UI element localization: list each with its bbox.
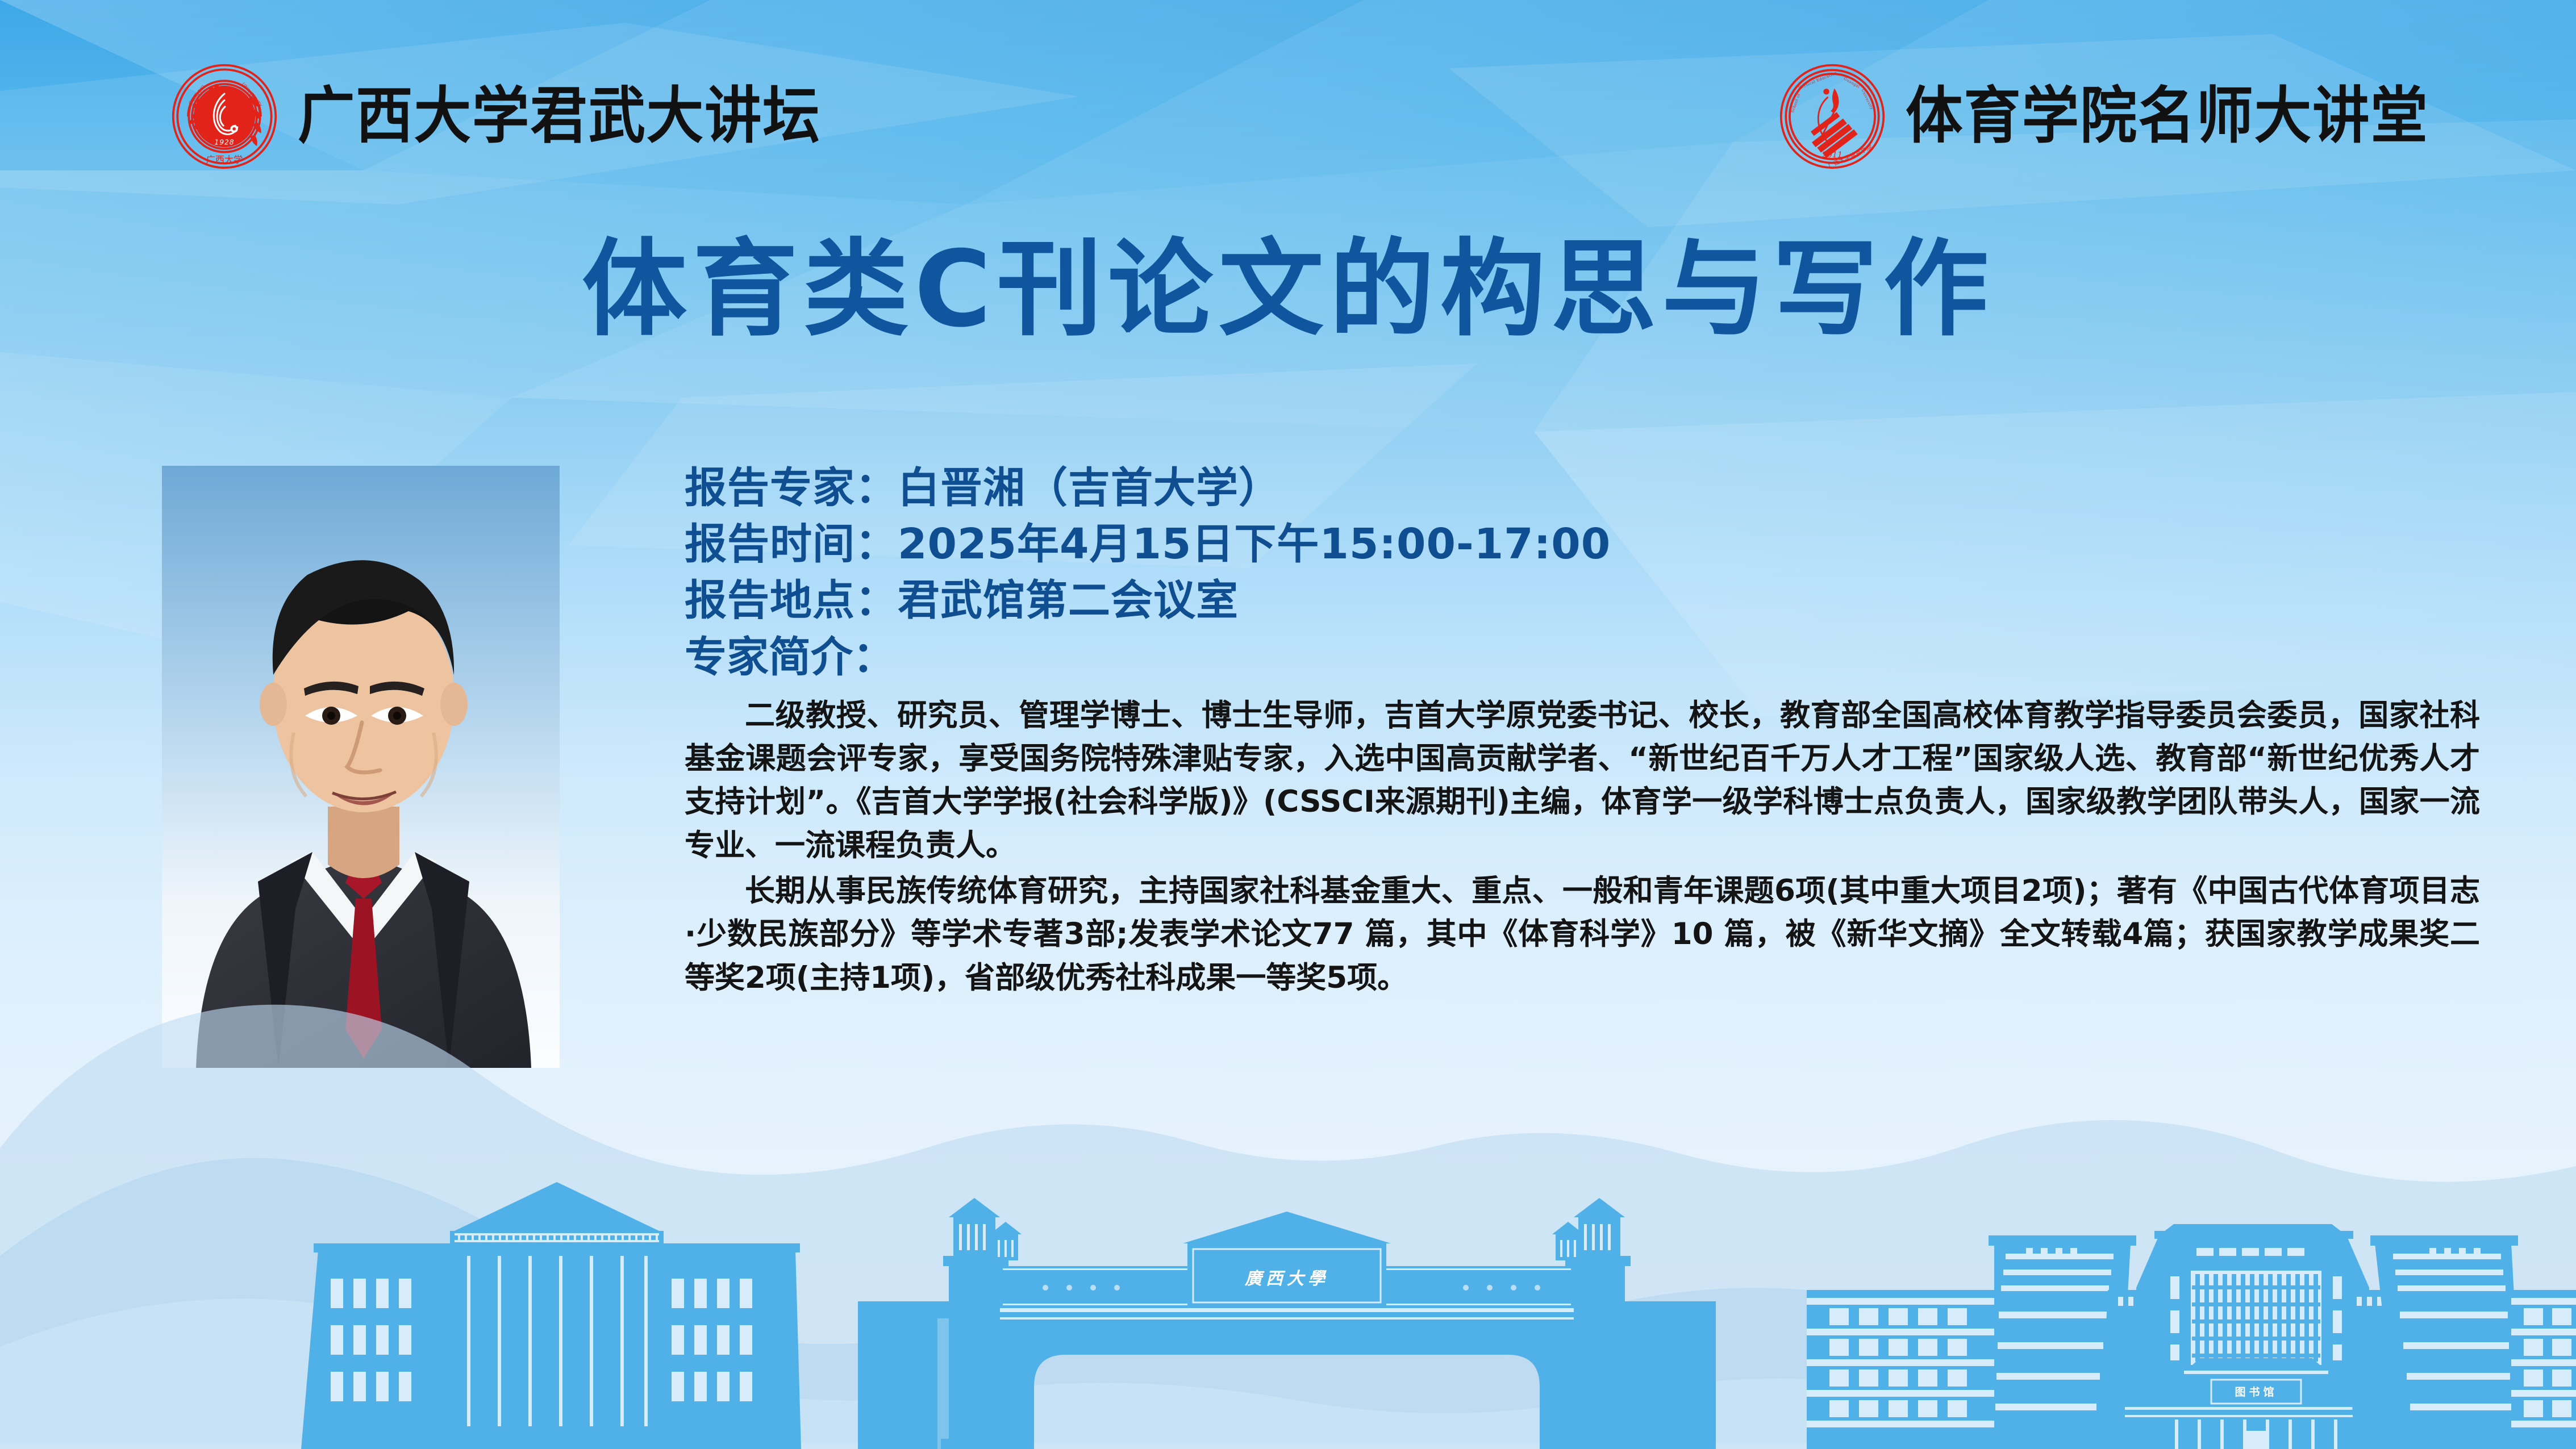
- center-gate: 廣西大學: [858, 1198, 1716, 1449]
- brand-left: 1928 广西大学 GUANGXI UNIVERSITY: [170, 62, 860, 170]
- campus-buildings: 廣西大學: [0, 1176, 2576, 1449]
- school-of-physical-education-seal-icon: 2011 School of Physical Education Guangx…: [1778, 62, 1886, 170]
- guangxi-university-seal-icon: 1928 广西大学 GUANGXI UNIVERSITY: [170, 62, 278, 170]
- bio-paragraph-1: 二级教授、研究员、管理学博士、博士生导师，吉首大学原党委书记、校长，教育部全国高…: [685, 694, 2480, 867]
- brand-right-title: 体育学院名师大讲堂: [1906, 86, 2429, 147]
- right-library-building: 图书馆: [1807, 1224, 2576, 1449]
- poster-canvas: 1928 广西大学 GUANGXI UNIVERSITY: [0, 0, 2576, 1449]
- brand-left-title: 广西大学君武大讲坛: [298, 86, 821, 147]
- venue-line: 报告地点：君武馆第二会议室: [685, 573, 2480, 629]
- gate-plaque-label: 廣西大學: [1244, 1269, 1329, 1289]
- bio-label: 专家简介：: [685, 630, 2480, 684]
- poster-header: 1928 广西大学 GUANGXI UNIVERSITY: [0, 62, 2576, 187]
- brand-right: 2011 School of Physical Education Guangx…: [1778, 62, 2468, 170]
- page-title: 体育类C刊论文的构思与写作: [0, 231, 2576, 348]
- library-plaque-label: 图书馆: [2235, 1385, 2277, 1398]
- svg-text:1928: 1928: [214, 138, 234, 146]
- svg-text:广西大学: 广西大学: [206, 154, 243, 165]
- time-line: 报告时间：2025年4月15日下午15:00-17:00: [685, 516, 2480, 573]
- speaker-line: 报告专家：白晋湘（吉首大学）: [685, 460, 2480, 516]
- left-building: [301, 1182, 801, 1449]
